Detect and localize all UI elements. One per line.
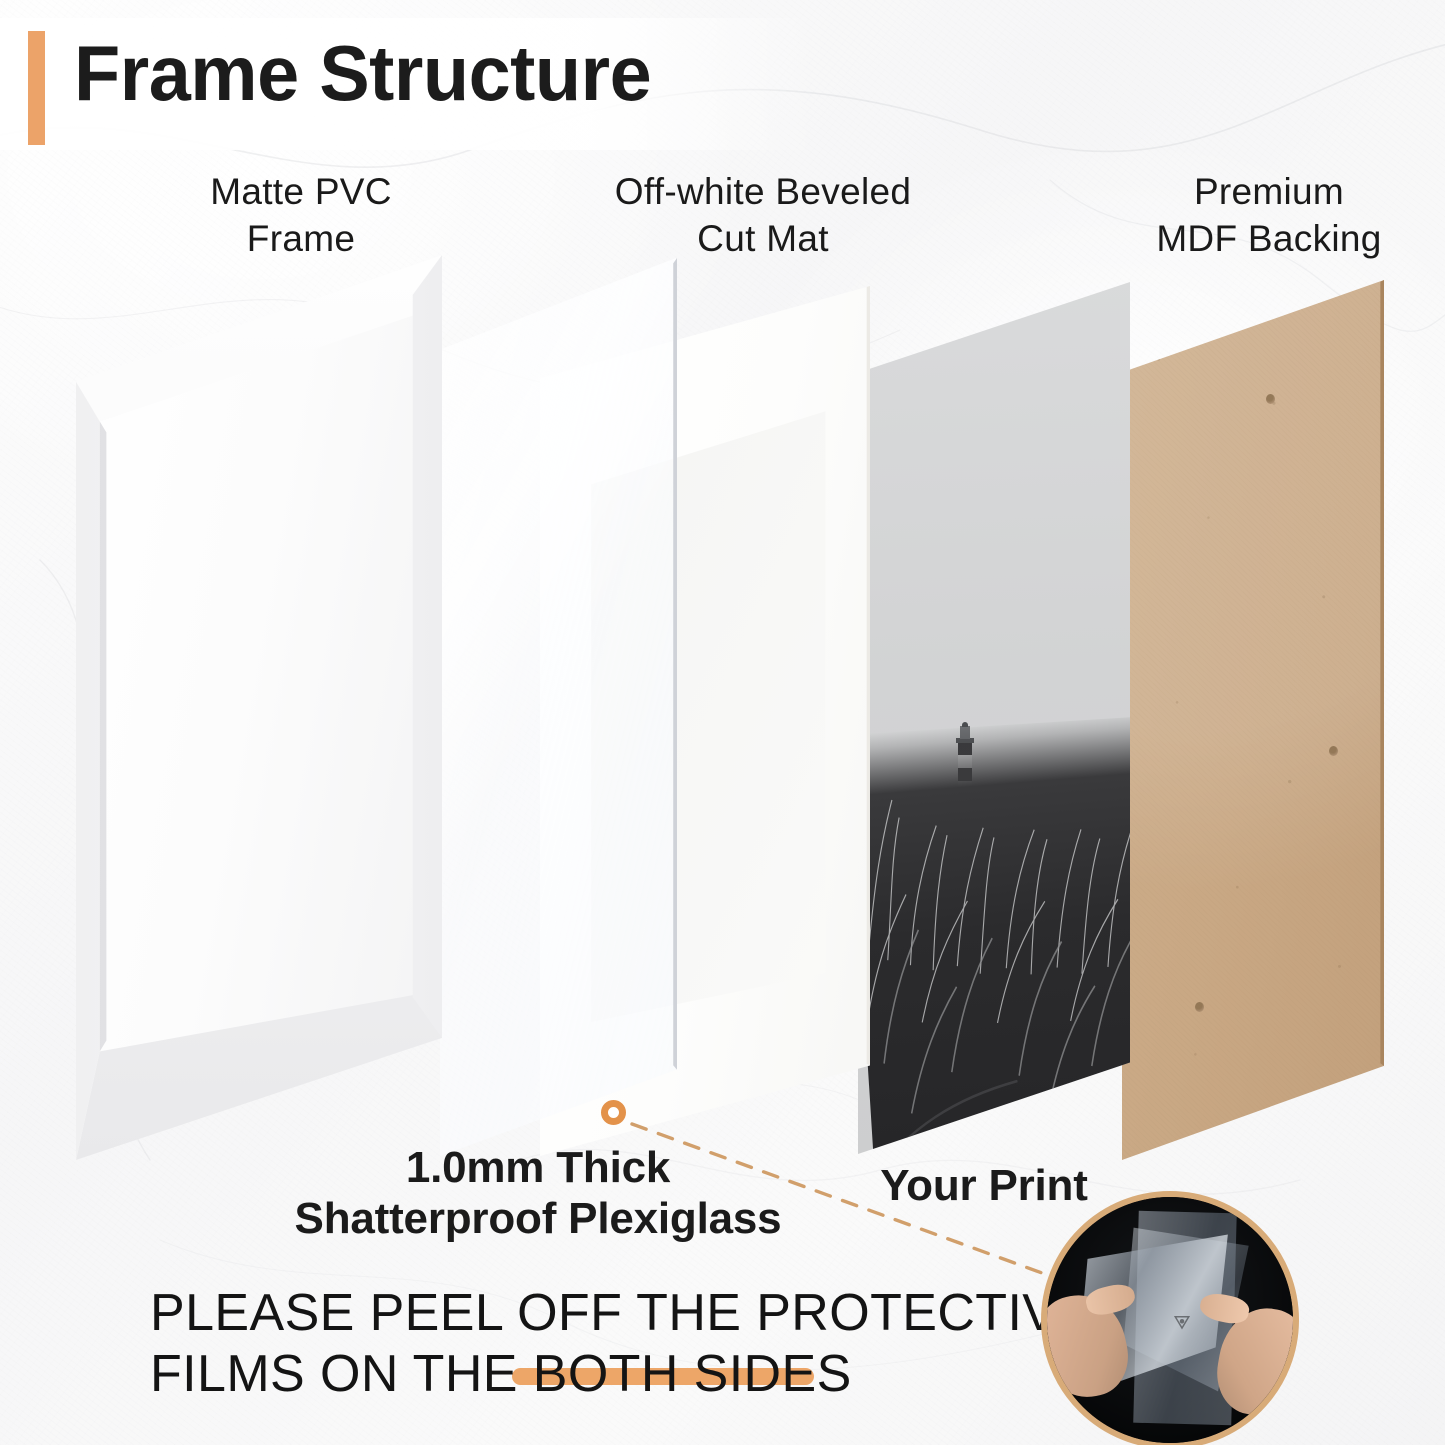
print-photo — [858, 282, 1130, 1154]
mdf-speckle-texture — [1122, 280, 1384, 1160]
frame-structure-infographic: Frame Structure Matte PVC Frame Off-whit… — [0, 0, 1445, 1445]
callout-plexiglass: 1.0mm Thick Shatterproof Plexiglass — [278, 1142, 798, 1244]
plexiglass-reflection — [440, 258, 676, 1156]
layer-mdf-backing — [1122, 280, 1384, 1160]
layer-pvc-frame — [76, 255, 442, 1160]
ring-marker-icon — [601, 1100, 626, 1125]
mdf-fastener-mark — [1195, 1002, 1204, 1012]
layer-art-print — [858, 282, 1130, 1154]
peel-instruction-line2: FILMS ON THE BOTH SIDES — [150, 1344, 1030, 1405]
peel-demo-inset — [1041, 1191, 1299, 1445]
photo-grass-blades — [858, 699, 1130, 1154]
peel-instruction: PLEASE PEEL OFF THE PROTECTIVE FILMS ON … — [150, 1283, 1030, 1406]
inset-film-logo-icon — [1172, 1313, 1192, 1331]
peel-instruction-line1: PLEASE PEEL OFF THE PROTECTIVE — [150, 1283, 1030, 1344]
layer-plexiglass — [440, 258, 676, 1156]
callout-plexiglass-line1: 1.0mm Thick — [406, 1143, 670, 1192]
callout-plexiglass-line2: Shatterproof Plexiglass — [295, 1194, 782, 1243]
